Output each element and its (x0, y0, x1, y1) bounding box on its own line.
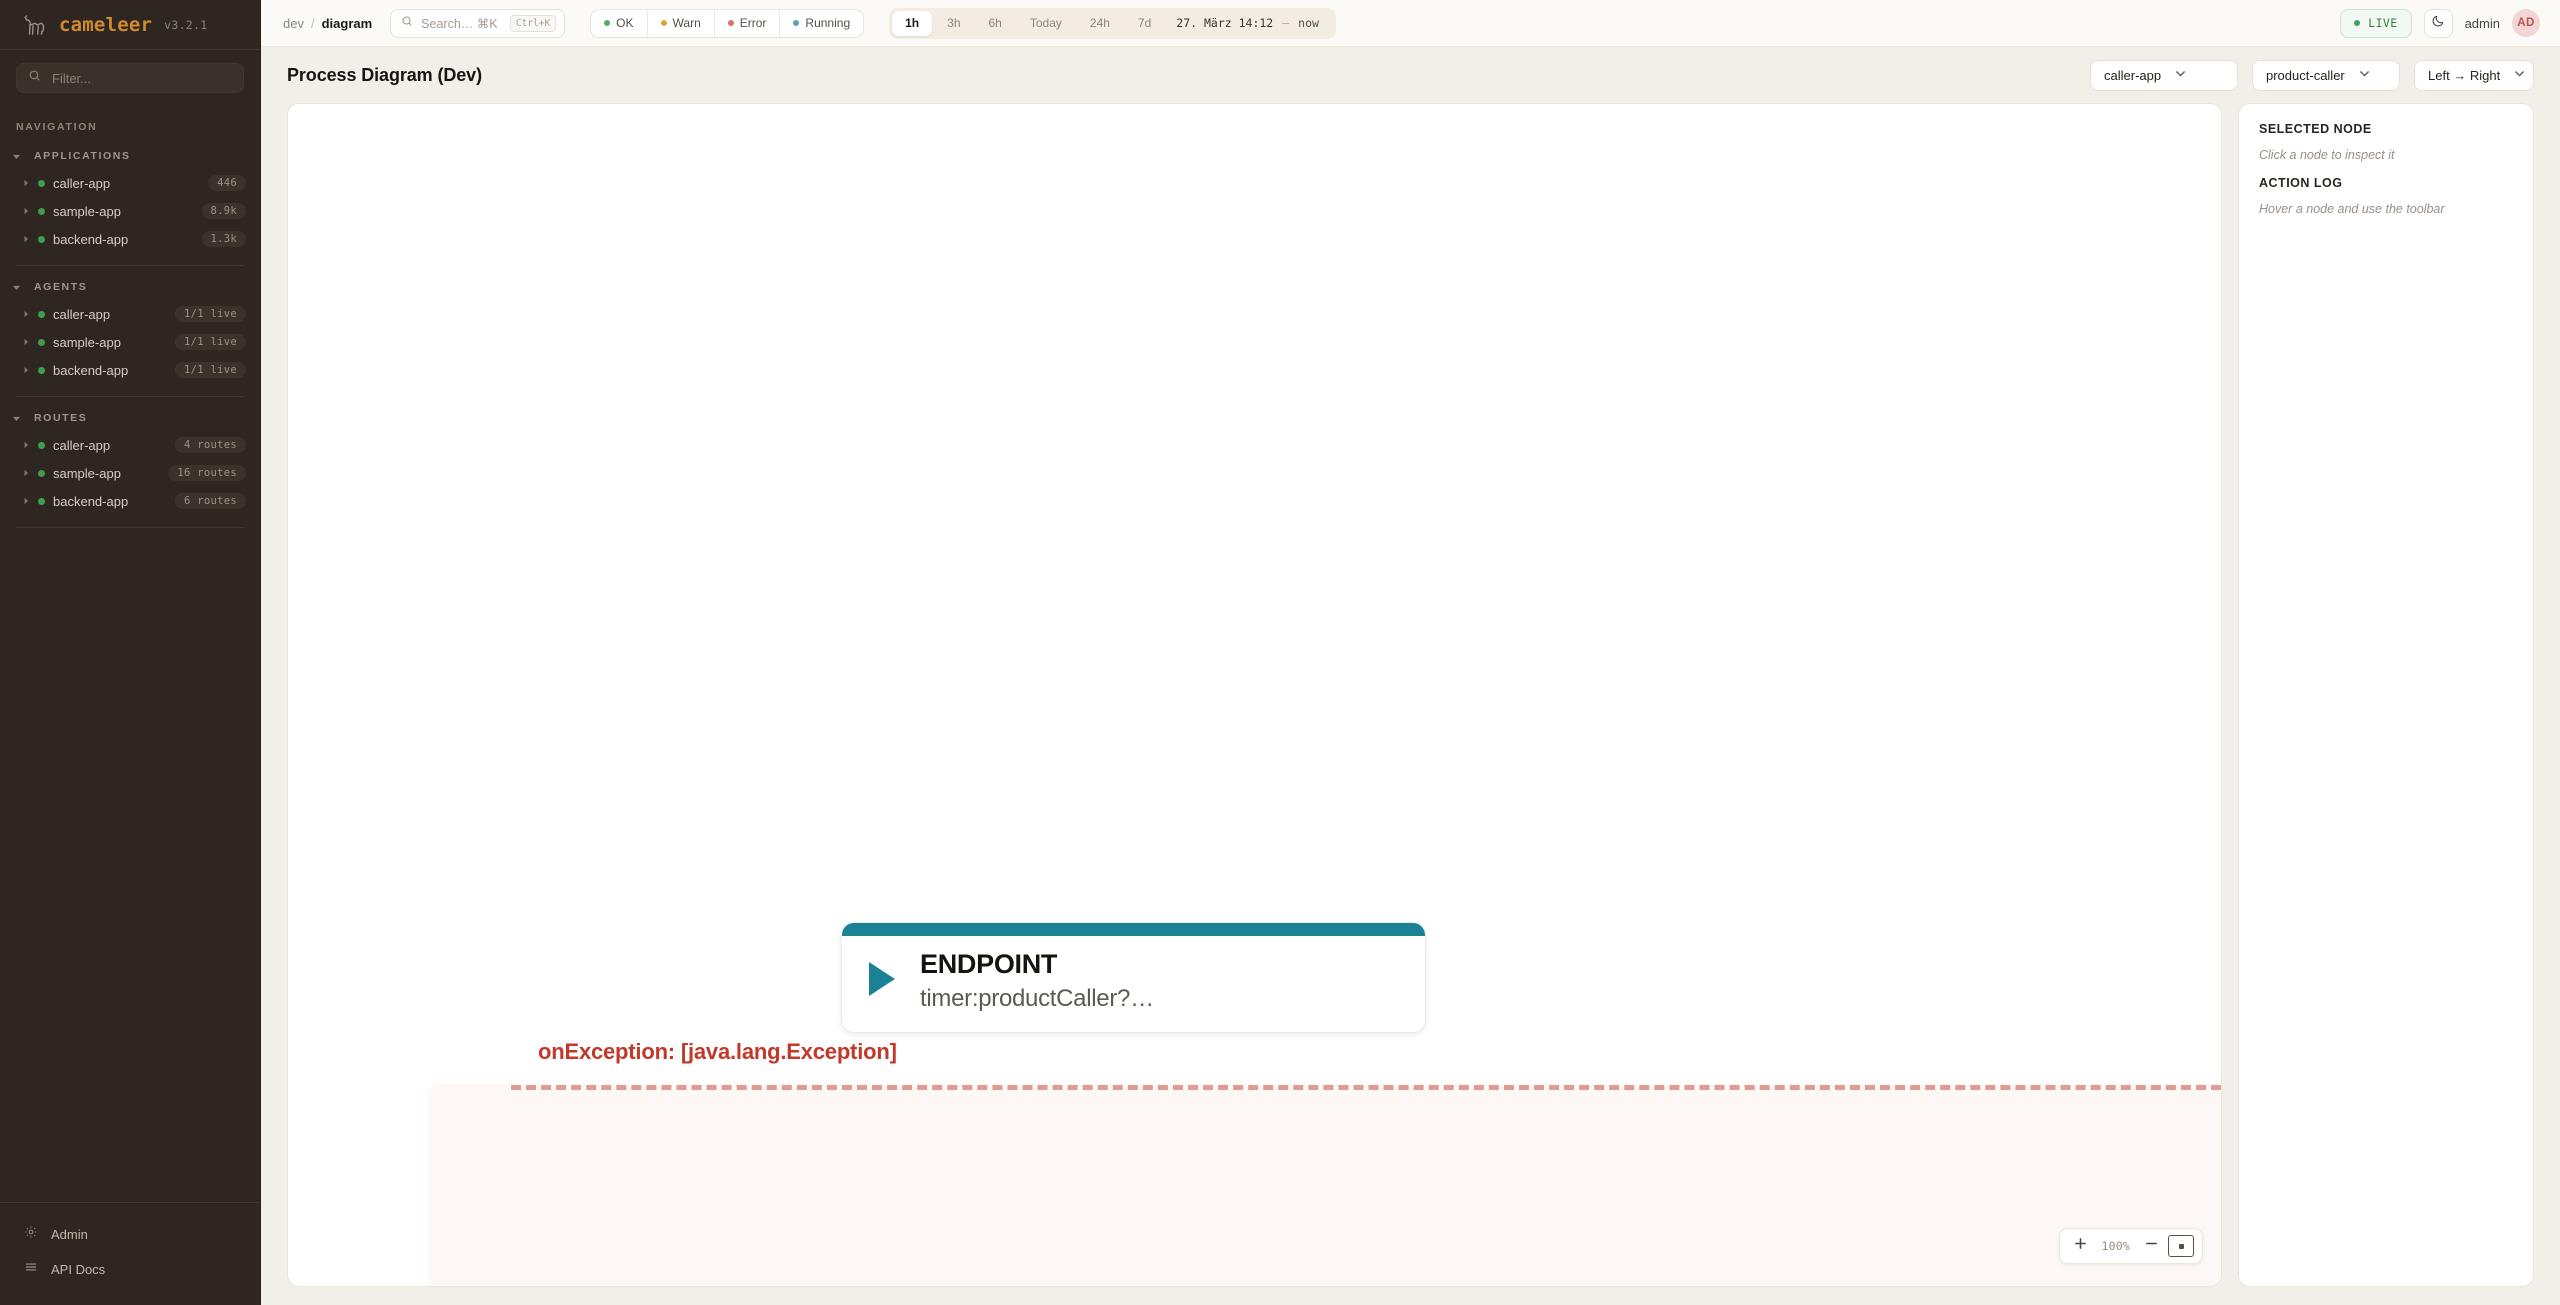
sidebar-item-agents-caller-app[interactable]: caller-app 1/1 live (0, 300, 260, 328)
group-label: AGENTS (28, 281, 87, 293)
chevron-right-icon (22, 310, 30, 318)
group-header-routes[interactable]: ROUTES (0, 405, 260, 431)
time-range-3h[interactable]: 3h (934, 11, 973, 36)
sidebar-item-api-docs[interactable]: API Docs (0, 1252, 260, 1287)
status-dot (728, 20, 734, 26)
search-shortcut: Ctrl+K (510, 15, 556, 32)
item-label: sample-app (53, 466, 160, 481)
status-dot (38, 236, 45, 243)
item-badge: 1/1 live (175, 334, 246, 350)
status-filter-group: OK Warn Error Running (590, 9, 864, 38)
application-select[interactable]: caller-app (2090, 60, 2238, 91)
chevron-down-icon (2175, 66, 2186, 84)
topbar-right: LIVE admin AD (2340, 9, 2540, 38)
theme-toggle-button[interactable] (2424, 9, 2453, 38)
moon-icon (2431, 14, 2445, 33)
chevron-right-icon (22, 469, 30, 477)
status-dot (38, 498, 45, 505)
search-icon (401, 14, 413, 32)
range-to: now (1298, 16, 1319, 30)
app-root: cameleer v3.2.1 NAVIGATION APPLICATIONS (0, 0, 2560, 1305)
item-badge: 1/1 live (175, 362, 246, 378)
filter-area (0, 50, 260, 103)
user-name: admin (2465, 16, 2500, 31)
item-label: sample-app (53, 335, 167, 350)
zoom-controls: 100% (2059, 1228, 2204, 1264)
sidebar-group-agents: AGENTS caller-app 1/1 live sample-app 1/… (0, 270, 260, 384)
status-dot (38, 208, 45, 215)
item-badge: 16 routes (168, 465, 246, 481)
sidebar: cameleer v3.2.1 NAVIGATION APPLICATIONS (0, 0, 261, 1305)
status-dot (604, 20, 610, 26)
camel-icon (22, 12, 48, 38)
chevron-right-icon (22, 207, 30, 215)
status-label: OK (616, 16, 633, 30)
sidebar-item-applications-caller-app[interactable]: caller-app 446 (0, 169, 260, 197)
zoom-in-button[interactable] (2066, 1231, 2096, 1261)
status-dot (2354, 20, 2360, 26)
chevron-down-icon (12, 152, 21, 161)
status-label: Running (805, 16, 850, 30)
item-label: caller-app (53, 307, 167, 322)
time-range-7d[interactable]: 7d (1125, 11, 1164, 36)
node-texts: ENDPOINT timer:productCaller?… (920, 950, 1154, 1014)
chevron-right-icon (22, 441, 30, 449)
status-dot (38, 367, 45, 374)
status-filter-error[interactable]: Error (715, 10, 781, 37)
item-badge: 6 routes (175, 493, 246, 509)
time-range-1h[interactable]: 1h (892, 11, 932, 36)
group-label: APPLICATIONS (28, 150, 131, 162)
item-label: caller-app (53, 176, 200, 191)
chevron-right-icon (22, 235, 30, 243)
node-kind: ENDPOINT (920, 950, 1154, 980)
selected-node-hint: Click a node to inspect it (2259, 148, 2513, 162)
chevron-right-icon (22, 366, 30, 374)
status-filter-running[interactable]: Running (780, 10, 863, 37)
chevron-right-icon (22, 338, 30, 346)
play-triangle-icon (866, 959, 900, 1004)
chevron-down-icon (2514, 66, 2525, 84)
breadcrumb-root[interactable]: dev (283, 16, 304, 31)
live-label: LIVE (2368, 16, 2397, 30)
zoom-fit-button[interactable] (2166, 1231, 2196, 1261)
exception-region: onException: [java.lang.Exception] (428, 1084, 2221, 1286)
direction-select[interactable]: Left → Right (2414, 60, 2534, 91)
exception-label: onException: [java.lang.Exception] (538, 1039, 897, 1065)
brand[interactable]: cameleer v3.2.1 (0, 0, 260, 50)
status-dot (38, 339, 45, 346)
sidebar-item-admin[interactable]: Admin (0, 1217, 260, 1252)
footer-label: API Docs (51, 1262, 105, 1277)
page-title: Process Diagram (Dev) (287, 65, 482, 86)
content-area: onException: [java.lang.Exception] ENDPO… (261, 103, 2560, 1305)
absolute-time-range[interactable]: 27. März 14:12 – now (1166, 16, 1333, 30)
time-range-24h[interactable]: 24h (1077, 11, 1123, 36)
sidebar-group-applications: APPLICATIONS caller-app 446 sample-app 8… (0, 139, 260, 253)
status-label: Warn (673, 16, 701, 30)
plus-icon (2074, 1237, 2087, 1255)
status-filter-ok[interactable]: OK (591, 10, 647, 37)
search-placeholder: Search… ⌘K (421, 16, 502, 31)
filter-input[interactable] (50, 70, 232, 87)
route-select[interactable]: product-caller (2252, 60, 2400, 91)
chevron-down-icon (12, 414, 21, 423)
item-badge: 4 routes (175, 437, 246, 453)
diagram-node-endpoint[interactable]: ENDPOINT timer:productCaller?… (841, 922, 1426, 1033)
status-filter-warn[interactable]: Warn (648, 10, 715, 37)
exception-divider (511, 1085, 2221, 1090)
brand-version: v3.2.1 (164, 18, 207, 32)
search-icon (28, 69, 41, 87)
group-header-applications[interactable]: APPLICATIONS (0, 143, 260, 169)
breadcrumb-current: diagram (322, 16, 373, 31)
minus-icon (2145, 1237, 2158, 1255)
gear-icon (24, 1225, 38, 1244)
status-dot (38, 442, 45, 449)
select-value: product-caller (2266, 68, 2345, 83)
live-indicator[interactable]: LIVE (2340, 9, 2411, 38)
item-badge: 8.9k (202, 203, 247, 219)
sidebar-nav: NAVIGATION APPLICATIONS caller-app 446 (0, 103, 260, 1202)
topbar: dev / diagram Search… ⌘K Ctrl+K OK Warn (261, 0, 2560, 47)
breadcrumb: dev / diagram (283, 16, 372, 31)
sidebar-item-routes-backend-app[interactable]: backend-app 6 routes (0, 487, 260, 515)
page-header: Process Diagram (Dev) caller-app product… (261, 47, 2560, 103)
sidebar-item-agents-sample-app[interactable]: sample-app 1/1 live (0, 328, 260, 356)
sidebar-footer: Admin API Docs (0, 1202, 260, 1305)
chevron-down-icon (12, 283, 21, 292)
inspector-panel: SELECTED NODE Click a node to inspect it… (2238, 103, 2534, 1287)
action-log-hint: Hover a node and use the toolbar (2259, 202, 2513, 216)
brand-name: cameleer (59, 14, 152, 36)
zoom-out-button[interactable] (2136, 1231, 2166, 1261)
group-label: ROUTES (28, 412, 87, 424)
sidebar-item-agents-backend-app[interactable]: backend-app 1/1 live (0, 356, 260, 384)
fit-to-screen-icon (2168, 1235, 2194, 1257)
filter-box[interactable] (16, 63, 244, 93)
divider (16, 396, 244, 397)
main-area: dev / diagram Search… ⌘K Ctrl+K OK Warn (261, 0, 2560, 1305)
item-badge: 1/1 live (175, 306, 246, 322)
range-dash: – (1282, 16, 1289, 30)
zoom-level: 100% (2096, 1239, 2137, 1253)
node-accent-bar (842, 923, 1425, 936)
item-label: sample-app (53, 204, 194, 219)
divider (16, 265, 244, 266)
search-box[interactable]: Search… ⌘K Ctrl+K (390, 9, 565, 38)
action-log-title: ACTION LOG (2259, 176, 2513, 190)
sidebar-item-routes-sample-app[interactable]: sample-app 16 routes (0, 459, 260, 487)
item-badge: 1.3k (202, 231, 247, 247)
breadcrumb-separator: / (311, 16, 315, 31)
node-uri: timer:productCaller?… (920, 984, 1154, 1014)
item-label: caller-app (53, 438, 167, 453)
chevron-down-icon (2359, 66, 2370, 84)
status-dot (38, 311, 45, 318)
status-dot (661, 20, 667, 26)
group-header-agents[interactable]: AGENTS (0, 274, 260, 300)
item-label: backend-app (53, 232, 194, 247)
footer-label: Admin (51, 1227, 88, 1242)
status-label: Error (740, 16, 767, 30)
diagram-canvas[interactable]: onException: [java.lang.Exception] ENDPO… (287, 103, 2222, 1287)
status-dot (38, 470, 45, 477)
menu-icon (24, 1260, 38, 1279)
avatar[interactable]: AD (2512, 9, 2540, 37)
divider (16, 527, 244, 528)
time-range-6h[interactable]: 6h (976, 11, 1015, 36)
item-label: backend-app (53, 494, 167, 509)
item-badge: 446 (208, 175, 246, 191)
status-dot (793, 20, 799, 26)
chevron-right-icon (22, 497, 30, 505)
range-from: 27. März 14:12 (1176, 16, 1273, 30)
sidebar-group-routes: ROUTES caller-app 4 routes sample-app 16… (0, 401, 260, 515)
time-range-today[interactable]: Today (1017, 11, 1075, 36)
time-range-group: 1h 3h 6h Today 24h 7d 27. März 14:12 – n… (889, 8, 1336, 39)
select-value: caller-app (2104, 68, 2161, 83)
page-header-controls: caller-app product-caller Left → Right (2090, 60, 2534, 91)
sidebar-item-applications-backend-app[interactable]: backend-app 1.3k (0, 225, 260, 253)
item-label: backend-app (53, 363, 167, 378)
node-body: ENDPOINT timer:productCaller?… (842, 936, 1425, 1032)
selected-node-title: SELECTED NODE (2259, 122, 2513, 136)
select-value: Left → Right (2428, 68, 2500, 83)
sidebar-item-applications-sample-app[interactable]: sample-app 8.9k (0, 197, 260, 225)
nav-section-title: NAVIGATION (0, 113, 260, 139)
chevron-right-icon (22, 179, 30, 187)
sidebar-item-routes-caller-app[interactable]: caller-app 4 routes (0, 431, 260, 459)
status-dot (38, 180, 45, 187)
